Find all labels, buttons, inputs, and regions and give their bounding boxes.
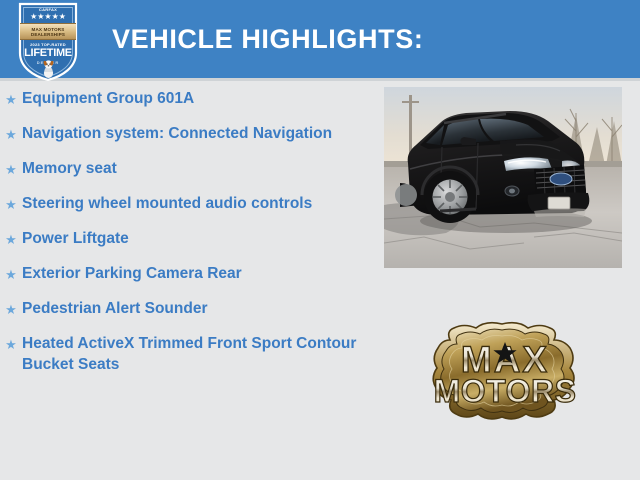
list-item-label: Pedestrian Alert Sounder [22,298,372,319]
star-bullet-icon: ★ [0,193,22,215]
star-bullet-icon: ★ [0,123,22,145]
star-bullet-icon: ★ [0,158,22,180]
star-bullet-icon: ★ [0,228,22,250]
list-item: ★ Steering wheel mounted audio controls [0,193,372,215]
vehicle-photo [384,87,622,268]
list-item: ★ Navigation system: Connected Navigatio… [0,123,372,145]
list-item-label: Equipment Group 601A [22,88,372,109]
list-item: ★ Heated ActiveX Trimmed Front Sport Con… [0,333,372,375]
slide-root: CARFAX ★★★★★ MAX MOTORS DEALERSHIPS 2023… [0,0,640,480]
carfax-lifetime-dealer-badge: CARFAX ★★★★★ MAX MOTORS DEALERSHIPS 2023… [17,1,79,81]
max-motors-dealer-logo: MAX MOTORS [428,318,582,426]
page-title: VEHICLE HIGHLIGHTS: [112,24,423,54]
list-item: ★ Memory seat [0,158,372,180]
list-item: ★ Exterior Parking Camera Rear [0,263,372,285]
list-item-label: Steering wheel mounted audio controls [22,193,372,214]
star-bullet-icon: ★ [0,333,22,355]
vehicle-highlights-list: ★ Equipment Group 601A ★ Navigation syst… [0,88,372,388]
logo-line2: MOTORS [434,373,577,409]
list-item: ★ Pedestrian Alert Sounder [0,298,372,320]
star-bullet-icon: ★ [0,88,22,110]
star-bullet-icon: ★ [0,298,22,320]
list-item-label: Power Liftgate [22,228,372,249]
vehicle-photo-frame [384,87,622,268]
list-item: ★ Equipment Group 601A [0,88,372,110]
header-divider [0,78,640,81]
list-item-label: Exterior Parking Camera Rear [22,263,372,284]
list-item-label: Heated ActiveX Trimmed Front Sport Conto… [22,333,372,375]
list-item-label: Navigation system: Connected Navigation [22,123,372,144]
dog-mascot-icon [41,58,56,78]
star-bullet-icon: ★ [0,263,22,285]
list-item-label: Memory seat [22,158,372,179]
list-item: ★ Power Liftgate [0,228,372,250]
